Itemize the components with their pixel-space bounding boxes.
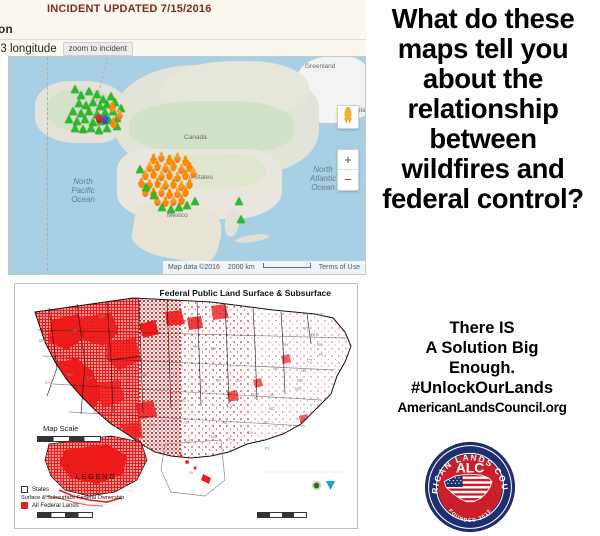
map-scale-bar: [263, 263, 311, 268]
map-label-greenland: Greenland: [305, 63, 335, 70]
map-marker-triangle[interactable]: [167, 205, 175, 213]
map-attribution-bar: Map data ©2016 2000 km Terms of Use: [163, 261, 365, 274]
pegman-legs-icon: [344, 118, 352, 124]
legend-heading: LEGEND: [21, 472, 171, 481]
legend-label-states: States: [32, 487, 49, 493]
svg-text:ND: ND: [135, 320, 141, 325]
svg-text:CA: CA: [45, 380, 51, 385]
federal-map-agency-logos: [312, 481, 335, 490]
svg-text:NY: NY: [283, 342, 289, 347]
svg-text:ID: ID: [73, 328, 77, 333]
svg-text:ME: ME: [317, 312, 324, 317]
subhead-line-2: A Solution Big: [425, 339, 538, 357]
map-marker-triangle[interactable]: [158, 203, 166, 211]
legend-item-federal-lands: All Federal Lands: [21, 502, 171, 509]
svg-text:NC: NC: [269, 406, 275, 411]
map-scale-bar-alaska: [37, 512, 93, 518]
svg-text:WI: WI: [193, 344, 198, 349]
svg-text:FL: FL: [265, 446, 271, 451]
svg-text:MN: MN: [167, 326, 174, 331]
legend-swatch-federal-lands: [21, 502, 28, 509]
svg-text:NM: NM: [121, 414, 128, 419]
legend-note-ownership: Surface & Subsurface Federal Ownership: [21, 495, 171, 501]
map-marker-triangle[interactable]: [85, 87, 93, 95]
svg-text:SC: SC: [263, 420, 269, 425]
svg-text:NJ: NJ: [301, 368, 306, 373]
poster-headline: What do these maps tell you about the re…: [372, 4, 594, 214]
svg-text:IN: IN: [217, 378, 221, 383]
svg-text:AL: AL: [227, 436, 233, 441]
svg-text:AZ: AZ: [93, 410, 99, 415]
svg-text:WA: WA: [41, 314, 48, 319]
map-marker-triangle[interactable]: [142, 183, 150, 191]
svg-text:OR: OR: [39, 338, 46, 343]
wildfire-map[interactable]: Greenland Icela Canada d States Mexico N…: [8, 56, 366, 275]
svg-text:WY: WY: [101, 350, 108, 355]
svg-text:TX: TX: [137, 436, 143, 441]
svg-text:OH: OH: [235, 378, 242, 383]
map-marker-triangle[interactable]: [85, 107, 93, 115]
zoom-out-button[interactable]: −: [338, 170, 358, 189]
svg-text:MA: MA: [317, 342, 324, 347]
svg-text:VT: VT: [303, 326, 309, 331]
location-coordinate-row: 3.553 longitudezoom to incident: [0, 40, 366, 56]
subhead-line-1: There IS: [449, 319, 514, 337]
map-marker-triangle[interactable]: [175, 203, 183, 211]
svg-text:OK: OK: [149, 422, 155, 427]
svg-text:PA: PA: [273, 366, 279, 371]
seal-monogram: ALC: [456, 460, 484, 475]
svg-text:KS: KS: [145, 398, 151, 403]
svg-text:SD: SD: [137, 346, 143, 351]
legend-label-federal-lands: All Federal Lands: [32, 503, 79, 509]
map-grid-line: [47, 57, 48, 275]
svg-text:UT: UT: [87, 376, 93, 381]
map-marker-triangle[interactable]: [79, 125, 87, 133]
map-scale-value: 2000 km: [228, 264, 255, 271]
poster-canvas: INCIDENT UPDATED 7/15/2016 ation 3.553 l…: [0, 0, 600, 536]
map-marker-triangle[interactable]: [81, 115, 89, 123]
map-marker-triangle[interactable]: [87, 124, 95, 132]
federal-lands-map: Federal Public Land Surface & Subsurface: [14, 283, 358, 529]
map-marker-triangle[interactable]: [191, 197, 199, 205]
svg-text:CT: CT: [307, 358, 313, 363]
svg-text:IA: IA: [173, 372, 177, 377]
subhead-hashtag: #UnlockOurLands: [411, 379, 553, 397]
svg-text:HI: HI: [189, 470, 193, 475]
svg-text:KY: KY: [227, 404, 233, 409]
svg-text:MO: MO: [179, 398, 187, 403]
map-marker-triangle[interactable]: [237, 215, 245, 223]
map-marker-triangle[interactable]: [103, 124, 111, 132]
svg-text:RI: RI: [319, 352, 323, 357]
map-marker-triangle[interactable]: [183, 201, 191, 209]
zoom-in-button[interactable]: +: [338, 150, 358, 169]
map-label-mexico: Mexico: [167, 212, 188, 219]
pegman-body-icon: [345, 109, 352, 118]
zoom-to-incident-button[interactable]: zoom to incident: [63, 42, 133, 56]
svg-text:NE: NE: [141, 372, 147, 377]
legend-item-states: States: [21, 486, 171, 493]
map-marker-triangle[interactable]: [69, 107, 77, 115]
map-zoom-control[interactable]: + −: [337, 149, 359, 191]
map-marker-triangle[interactable]: [136, 165, 144, 173]
map-marker-triangle[interactable]: [235, 197, 243, 205]
svg-text:NH: NH: [311, 332, 317, 337]
map-marker-triangle[interactable]: [77, 91, 85, 99]
svg-text:CO: CO: [119, 376, 126, 381]
legend-swatch-states: [21, 486, 28, 493]
svg-text:MD: MD: [295, 386, 302, 391]
agency-seal-icon: [312, 481, 321, 490]
poster-subhead: There IS A Solution Big Enough. #UnlockO…: [366, 318, 598, 416]
map-terms-of-use-link[interactable]: Terms of Use: [319, 264, 360, 271]
svg-text:DE: DE: [297, 378, 303, 383]
map-scale-bar-hawaii: [257, 512, 307, 518]
svg-text:GA: GA: [247, 430, 253, 435]
svg-text:VA: VA: [269, 392, 275, 397]
svg-text:IL: IL: [201, 378, 205, 383]
federal-map-legend: LEGEND States Surface & Subsurface Feder…: [21, 472, 171, 511]
svg-text:AR: AR: [183, 420, 189, 425]
street-view-pegman-control[interactable]: [337, 105, 359, 129]
map-label-north-pacific-ocean: NorthPacificOcean: [57, 177, 109, 204]
map-scale-bar-main: [37, 436, 101, 442]
incident-info-panel: INCIDENT UPDATED 7/15/2016 ation 3.553 l…: [0, 0, 366, 56]
landcover-boreal-forest: [129, 101, 294, 153]
map-marker-triangle[interactable]: [95, 126, 103, 134]
longitude-value: 3.553 longitude: [0, 43, 57, 55]
map-scale-label: Map Scale: [43, 424, 78, 433]
svg-text:MS: MS: [211, 434, 218, 439]
location-section-heading: ation: [0, 22, 366, 40]
svg-text:MI: MI: [211, 346, 216, 351]
agency-triangle-icon: [326, 481, 335, 490]
map-data-copyright: Map data ©2016: [168, 264, 220, 271]
incident-updated-label: INCIDENT UPDATED 7/15/2016: [47, 3, 212, 15]
map-marker-triangle[interactable]: [71, 124, 79, 132]
map-marker-triangle[interactable]: [150, 191, 158, 199]
american-lands-council-seal: AMERICAN LANDS COUNCIL ALC FOUNDED 2012: [424, 441, 516, 533]
map-label-canada: Canada: [184, 134, 207, 141]
map-marker-triangle[interactable]: [65, 115, 73, 123]
svg-text:NV: NV: [67, 372, 73, 377]
organization-url[interactable]: AmericanLandsCouncil.org: [366, 399, 598, 416]
subhead-line-3: Enough.: [449, 359, 515, 377]
svg-text:TN: TN: [221, 420, 227, 425]
svg-text:WV: WV: [251, 392, 258, 397]
svg-text:MT: MT: [99, 314, 106, 319]
